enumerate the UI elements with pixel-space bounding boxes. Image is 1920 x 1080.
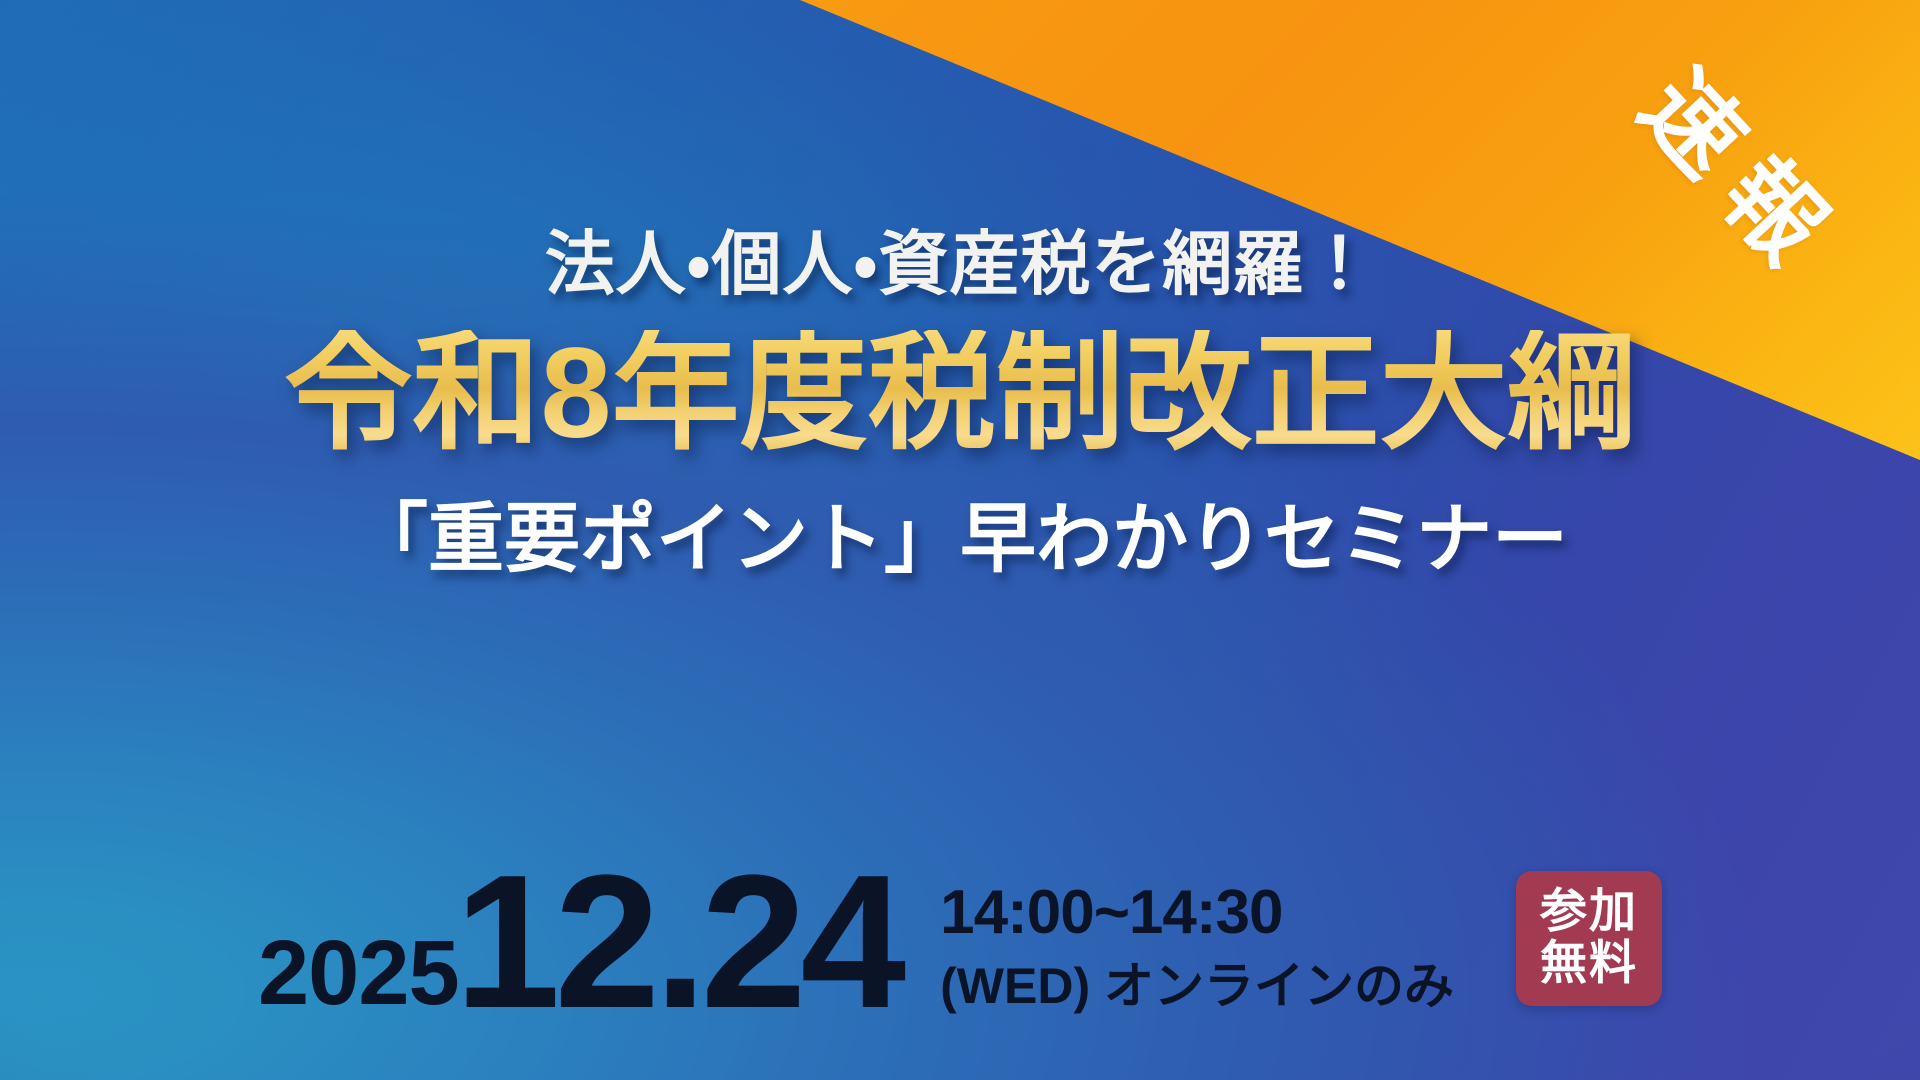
schedule-weekday-mode: (WED) オンラインのみ	[940, 957, 1454, 1016]
page-title: 令和8年度税制改正大綱	[0, 330, 1920, 458]
schedule-row: 2025 12.24 14:00~14:30 (WED) オンラインのみ 参加 …	[0, 861, 1920, 1024]
status-badge: 参加 無料	[1516, 871, 1662, 1006]
schedule-time-block: 14:00~14:30 (WED) オンラインのみ	[940, 876, 1454, 1024]
badge-line-1: 参加	[1540, 885, 1638, 938]
schedule-year: 2025	[258, 928, 459, 1024]
schedule-time: 14:00~14:30	[940, 876, 1454, 949]
schedule-day: 12.24	[455, 861, 900, 1024]
badge-line-2: 無料	[1540, 937, 1638, 990]
kicker-text: 法人・個人・資産税を網羅！	[0, 228, 1920, 302]
subtitle-text: 「重要ポイント」早わかりセミナー	[0, 500, 1920, 580]
seminar-banner: 速報 法人・個人・資産税を網羅！ 令和8年度税制改正大綱 「重要ポイント」早わか…	[0, 0, 1920, 1080]
